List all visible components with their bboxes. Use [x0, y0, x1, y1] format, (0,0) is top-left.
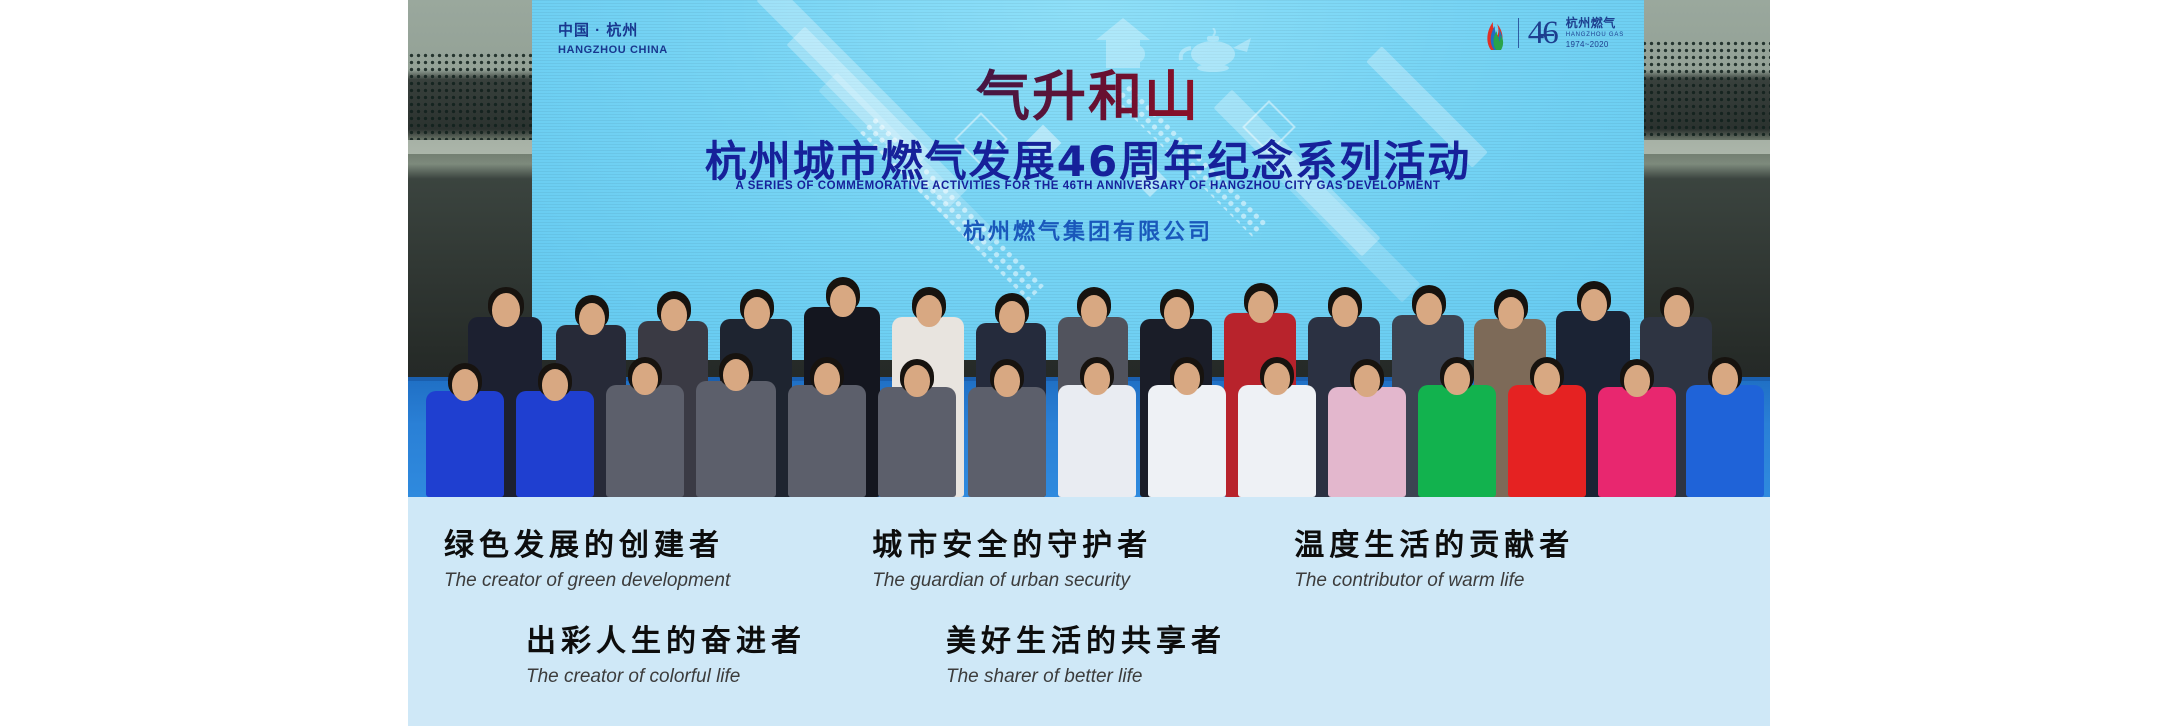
logo-text-block: 杭州燃气 HANGZHOU GAS 1974~2020 [1566, 16, 1624, 51]
slogan-panel: 绿色发展的创建者 The creator of green developmen… [408, 497, 1770, 726]
person-front [696, 335, 776, 497]
person-front [878, 341, 956, 497]
person-front [606, 339, 684, 497]
event-wordmark: 气升和山 [532, 52, 1644, 131]
logo-company-en: HANGZHOU GAS [1566, 32, 1624, 40]
slogan-item: 绿色发展的创建者 The creator of green developmen… [444, 520, 730, 592]
slogan-cn: 城市安全的守护者 [872, 520, 1152, 564]
slogan-row-2: 出彩人生的奋进者 The creator of colorful life 美好… [526, 616, 1226, 688]
slogan-cn: 绿色发展的创建者 [444, 520, 730, 564]
slogan-item: 城市安全的守护者 The guardian of urban security [872, 520, 1152, 592]
logo-divider [1518, 18, 1519, 48]
locality-cn: 中国 · 杭州 [558, 22, 668, 41]
person-front [968, 341, 1046, 497]
slogan-item: 美好生活的共享者 The sharer of better life [946, 616, 1226, 688]
person-front [788, 339, 866, 497]
person-front [1508, 339, 1586, 497]
slogan-en: The creator of green development [444, 570, 730, 592]
person-front [1418, 339, 1496, 497]
person-front [1598, 341, 1676, 497]
anniversary-logo: 46 杭州燃气 HANGZHOU GAS 1974~2020 [1483, 16, 1624, 51]
poster-page: 中国 · 杭州 HANGZHOU CHINA 46 杭州燃气 HANGZHOU … [0, 0, 2179, 726]
person-front [1148, 339, 1226, 497]
slogan-item: 温度生活的贡献者 The contributor of warm life [1294, 520, 1574, 592]
slogan-cn: 出彩人生的奋进者 [526, 616, 806, 660]
logo-years: 1974~2020 [1566, 40, 1624, 50]
person-front [1328, 341, 1406, 497]
slogan-cn: 温度生活的贡献者 [1294, 520, 1574, 564]
person-front [1238, 339, 1316, 497]
event-photo: 中国 · 杭州 HANGZHOU CHINA 46 杭州燃气 HANGZHOU … [408, 0, 1770, 497]
person-front [1058, 337, 1136, 497]
slogan-en: The creator of colorful life [526, 666, 806, 688]
slogan-en: The contributor of warm life [1294, 570, 1574, 592]
slogan-cn: 美好生活的共享者 [946, 616, 1226, 660]
slogan-item: 出彩人生的奋进者 The creator of colorful life [526, 616, 806, 688]
group-photo-crowd [408, 167, 1770, 497]
flame-icon [1483, 16, 1509, 50]
slogan-en: The sharer of better life [946, 666, 1226, 688]
slogan-row-1: 绿色发展的创建者 The creator of green developmen… [444, 520, 1574, 592]
anniversary-number: 46 [1528, 17, 1557, 50]
slogan-en: The guardian of urban security [872, 570, 1152, 592]
person-front [1686, 339, 1764, 497]
person-front [516, 347, 594, 497]
person-front [426, 347, 504, 497]
logo-company-cn: 杭州燃气 [1566, 16, 1624, 32]
